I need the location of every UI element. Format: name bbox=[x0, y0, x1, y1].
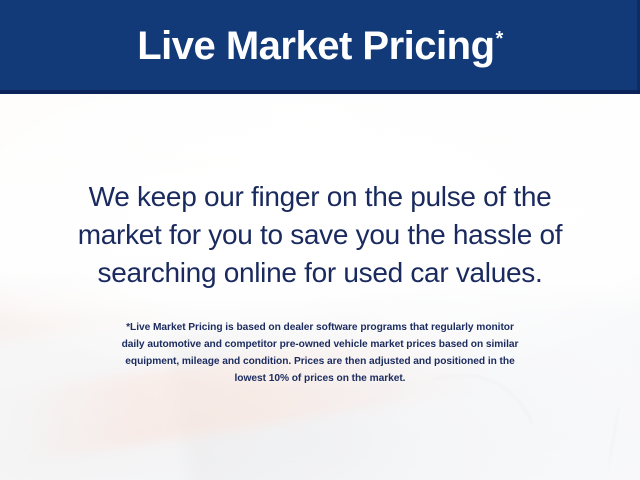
disclaimer-line-3: equipment, mileage and condition. Prices… bbox=[0, 353, 640, 370]
header-band: Live Market Pricing* bbox=[0, 0, 640, 94]
disclaimer-line-1: *Live Market Pricing is based on dealer … bbox=[0, 319, 640, 336]
headline-line-2: market for you to save you the hassle of bbox=[0, 216, 640, 254]
disclaimer: *Live Market Pricing is based on dealer … bbox=[0, 319, 640, 387]
page-title-asterisk: * bbox=[496, 28, 503, 50]
headline-line-3: searching online for used car values. bbox=[0, 254, 640, 292]
page-title-text: Live Market Pricing bbox=[137, 24, 494, 68]
page-title: Live Market Pricing* bbox=[137, 26, 503, 66]
content-area: We keep our finger on the pulse of the m… bbox=[0, 94, 640, 480]
live-market-pricing-banner: Live Market Pricing* We keep our finger … bbox=[0, 0, 640, 480]
disclaimer-line-4: lowest 10% of prices on the market. bbox=[0, 370, 640, 387]
headline-line-1: We keep our finger on the pulse of the bbox=[0, 178, 640, 216]
disclaimer-line-2: daily automotive and competitor pre-owne… bbox=[0, 336, 640, 353]
headline: We keep our finger on the pulse of the m… bbox=[0, 178, 640, 292]
